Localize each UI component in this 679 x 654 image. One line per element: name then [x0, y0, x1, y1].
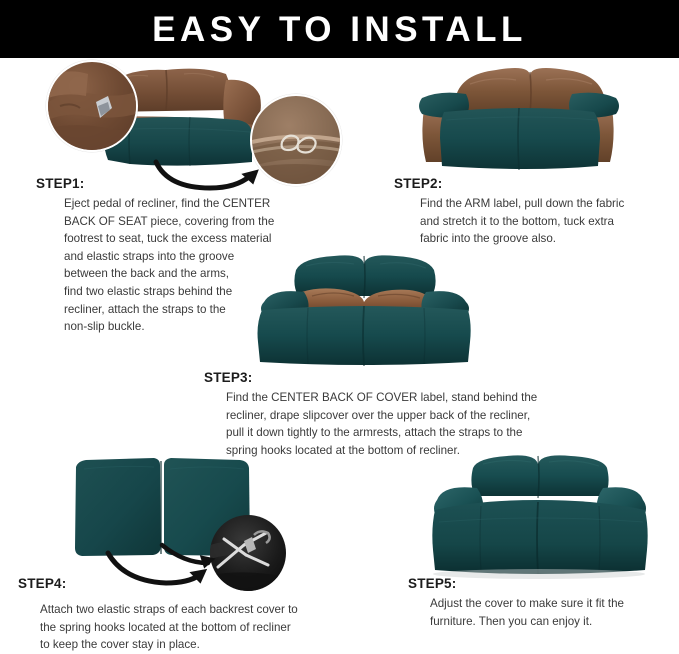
eject-pedal-detail-icon	[48, 62, 136, 150]
step5-body: Adjust the cover to make sure it fit the…	[408, 595, 668, 630]
step1-illustration	[38, 62, 338, 177]
step5-illustration	[425, 452, 655, 580]
step3-label: STEP3:	[204, 370, 544, 385]
step2-label: STEP2:	[394, 176, 664, 191]
step4-label: STEP4:	[18, 576, 318, 591]
header-banner: EASY TO INSTALL	[0, 0, 679, 58]
step4-illustration	[58, 455, 298, 575]
step2-body: Find the ARM label, pull down the fabric…	[394, 195, 664, 248]
step2-illustration	[400, 62, 660, 174]
step5-text-block: STEP5: Adjust the cover to make sure it …	[408, 576, 668, 630]
step4-text-block: STEP4: Attach two elastic straps of each…	[18, 576, 318, 654]
step3-body: Find the CENTER BACK OF COVER label, sta…	[204, 389, 544, 459]
step3-loveseat-image	[250, 250, 480, 368]
step3-text-block: STEP3: Find the CENTER BACK OF COVER lab…	[204, 370, 544, 459]
step2-text-block: STEP2: Find the ARM label, pull down the…	[394, 176, 664, 248]
step2-loveseat-image	[400, 62, 660, 174]
page-title: EASY TO INSTALL	[152, 12, 527, 47]
step5-label: STEP5:	[408, 576, 668, 591]
step4-body: Attach two elastic straps of each backre…	[18, 601, 318, 654]
step1-eject-pedal-inset	[46, 60, 138, 152]
step3-illustration	[250, 250, 480, 368]
step1-label: STEP1:	[36, 176, 306, 191]
step5-covered-loveseat-image	[425, 452, 655, 580]
